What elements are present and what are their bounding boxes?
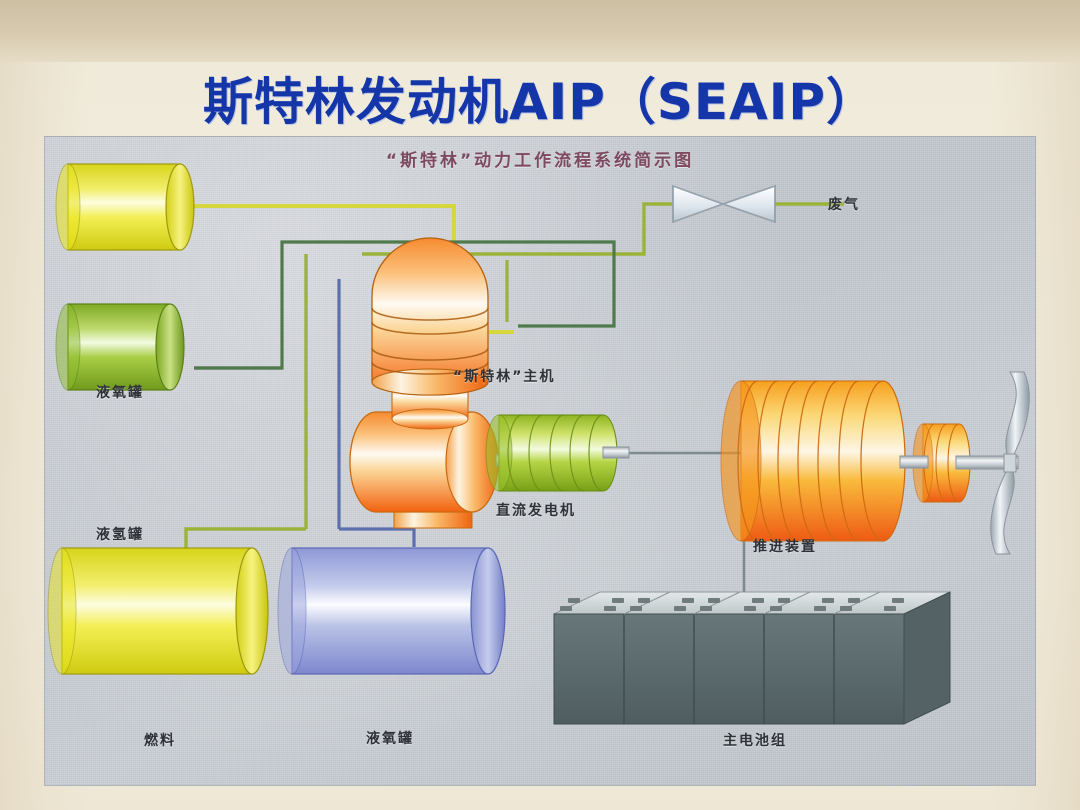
- label-lox-tank-top: 液氧罐: [96, 382, 144, 402]
- label-propulsion: 推进装置: [753, 536, 817, 556]
- label-dc-generator: 直流发电机: [496, 500, 576, 520]
- label-battery-pack: 主电池组: [723, 730, 787, 750]
- valve-bowtie-icon: [673, 186, 775, 222]
- band-background: [0, 0, 1080, 62]
- diagram-components: [44, 136, 1036, 786]
- fuel-tank: [48, 548, 268, 674]
- slide-canvas: 斯特林发动机AIP（SEAIP） “斯特林”动力工作流程系统简示图: [0, 0, 1080, 810]
- decorative-top-band: [0, 0, 1080, 62]
- liquid-hydrogen-tank: [56, 304, 184, 390]
- label-lox-tank-bottom: 液氧罐: [366, 728, 414, 748]
- label-fuel-tank: 燃料: [144, 730, 176, 750]
- label-main-engine: “斯特林”主机: [453, 366, 555, 386]
- lox-tank-top: [56, 164, 194, 250]
- label-lhydrogen-tank: 液氢罐: [96, 524, 144, 544]
- battery-pack: [554, 592, 950, 724]
- diagram-panel: “斯特林”动力工作流程系统简示图: [44, 136, 1036, 786]
- label-exhaust: 废气: [828, 194, 860, 214]
- propulsion-unit: [721, 381, 1018, 541]
- page-title: 斯特林发动机AIP（SEAIP）: [0, 62, 1080, 134]
- lox-tank-bottom: [278, 548, 505, 674]
- dc-generator: [486, 415, 629, 491]
